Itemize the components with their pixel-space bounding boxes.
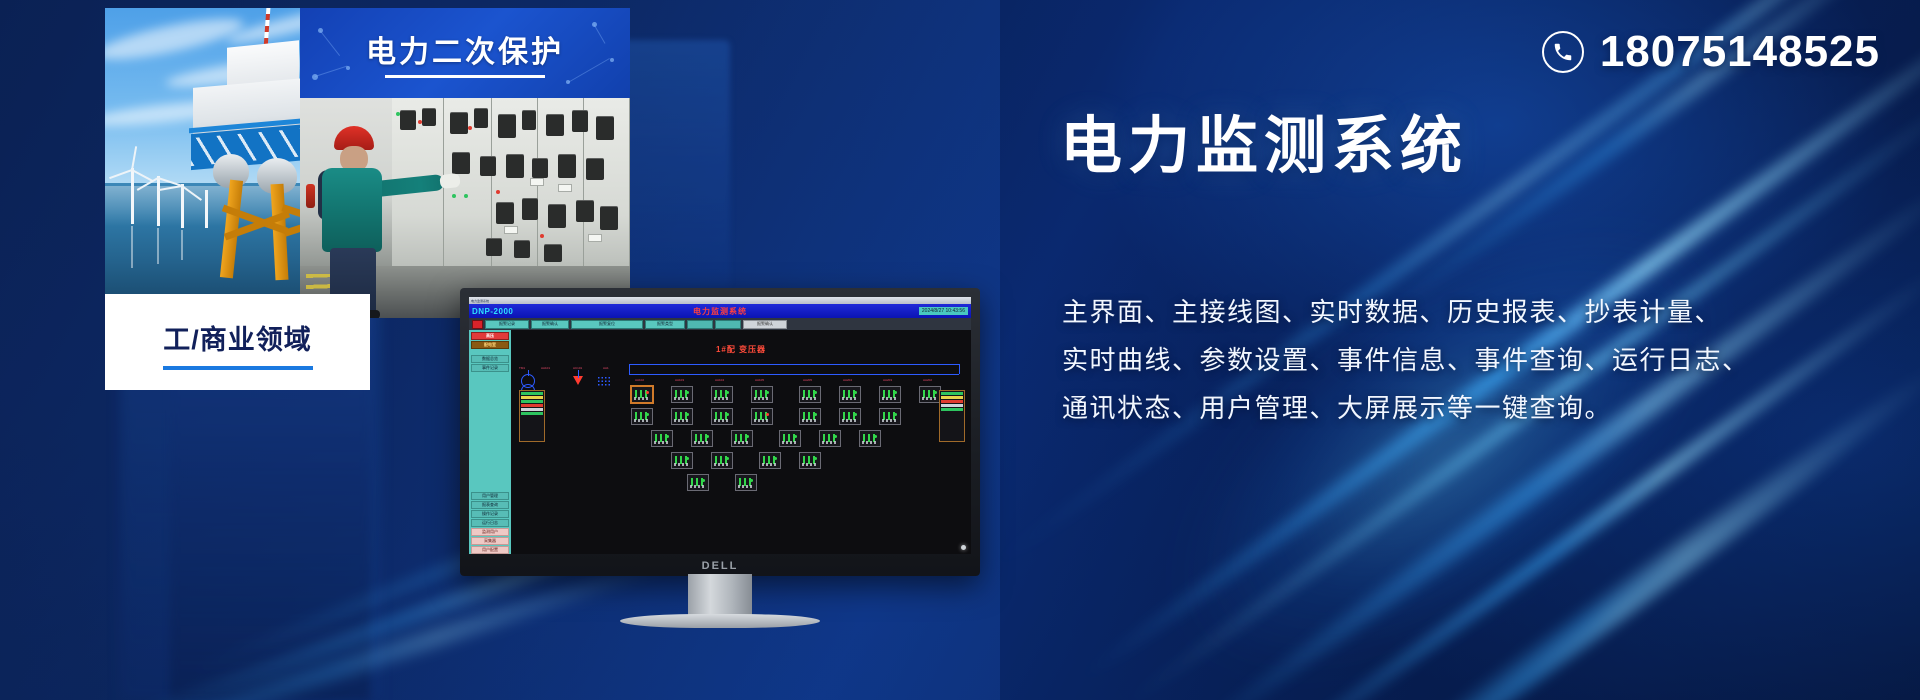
wind-turbine <box>181 184 184 228</box>
bay-label: AA102 <box>635 378 644 382</box>
turbine-reflection <box>157 228 159 264</box>
breaker-handle <box>522 198 538 220</box>
breaker-handle <box>450 112 468 134</box>
measurement-row <box>941 400 963 403</box>
card-industry-label: 工/商业领域 <box>105 318 370 357</box>
breaker-handle <box>596 116 614 140</box>
feeder-cell[interactable] <box>779 430 801 447</box>
sidebar-item-operation-record[interactable]: 操作记录 <box>471 510 509 518</box>
feeder-cell[interactable] <box>839 408 861 425</box>
cabinet-label <box>530 178 544 186</box>
sidebar-item-user-management[interactable]: 用户管理 <box>471 492 509 500</box>
bay-label: AA103 <box>675 378 684 382</box>
card-industrial-commercial[interactable]: 工/商业领域 <box>105 294 370 390</box>
breaker-handle <box>474 108 488 128</box>
measurement-panel[interactable] <box>939 390 965 442</box>
feeder-cell[interactable] <box>799 452 821 469</box>
description-line-1: 主界面、主接线图、实时数据、历史报表、抄表计量、 <box>1062 288 1902 336</box>
bay-label: AA203 <box>883 378 892 382</box>
breaker-handle <box>576 200 594 222</box>
bay-label: AA202 <box>923 378 932 382</box>
feeder-cell[interactable] <box>731 430 753 447</box>
measurement-row <box>521 396 543 399</box>
phone-in-circle-icon <box>1542 31 1584 73</box>
feeder-cell[interactable] <box>671 408 693 425</box>
feeder-cell[interactable] <box>671 386 693 403</box>
feeder-cell[interactable] <box>687 474 709 491</box>
feeder-cell[interactable] <box>859 430 881 447</box>
bay-label: AA1 <box>603 366 609 370</box>
feeder-cell[interactable] <box>839 386 861 403</box>
worker-figure <box>316 126 388 316</box>
desktop-monitor: 电力监测系统 DNP-2000 电力监测系统 2024/8/27 10:43:5… <box>460 288 980 618</box>
diagram-title: 1#配 变压器 <box>511 344 971 355</box>
turbine-reflection <box>131 226 133 268</box>
scada-application: 电力监测系统 DNP-2000 电力监测系统 2024/8/27 10:43:5… <box>469 297 971 554</box>
wind-turbine <box>205 190 208 228</box>
bay-label: AA204 <box>843 378 852 382</box>
scada-app-header: DNP-2000 电力监测系统 2024/8/27 10:43:56 <box>469 304 971 318</box>
measurement-panel[interactable] <box>519 390 545 442</box>
wind-turbine <box>157 176 160 226</box>
bay-label: TM1 <box>519 366 525 370</box>
bay-label: AA104 <box>715 378 724 382</box>
monitor-power-led[interactable] <box>961 545 966 550</box>
description-line-3: 通讯状态、用户管理、大屏展示等一键查询。 <box>1062 384 1902 432</box>
feeder-cell[interactable] <box>691 430 713 447</box>
power-monitoring-banner: 电力二次保护 <box>0 0 1920 700</box>
measurement-row <box>521 400 543 403</box>
banner-content: 18075148525 电力监测系统 主界面、主接线图、实时数据、历史报表、抄表… <box>1060 0 1920 700</box>
switchgear-operation-photo <box>300 98 630 318</box>
fire-extinguisher <box>306 184 315 208</box>
feeder-cell[interactable] <box>711 408 733 425</box>
scada-single-line-diagram: 1#配 变压器 TM1 AA101 AC101 AA1 <box>511 330 971 554</box>
connection-line <box>528 370 529 376</box>
status-led <box>418 120 422 124</box>
turbine-reflection <box>181 230 183 260</box>
toolbar-button[interactable] <box>715 320 741 329</box>
cabinet-label <box>588 234 602 242</box>
bay-label: AA105 <box>755 378 764 382</box>
busbar <box>629 374 959 375</box>
monitor-stand-neck <box>688 574 752 618</box>
breaker-handle <box>548 204 566 228</box>
feeder-cell[interactable] <box>631 408 653 425</box>
feeder-cell[interactable] <box>919 386 941 403</box>
status-led <box>452 194 456 198</box>
feeder-cell[interactable] <box>759 452 781 469</box>
status-led <box>396 112 400 116</box>
toolbar-button[interactable]: 报警确认 <box>531 320 569 329</box>
wind-turbine <box>131 168 134 224</box>
scada-toolbar[interactable]: 报警记录 报警确认 报警复位 报警类型 报警确认 <box>469 318 971 330</box>
cabinet-label <box>504 226 518 234</box>
feeder-cell[interactable] <box>879 408 901 425</box>
toolbar-button[interactable]: 报警类型 <box>645 320 685 329</box>
breaker-handle <box>572 110 588 132</box>
card-protection-label: 电力二次保护 <box>300 27 630 71</box>
measurement-row <box>521 408 543 411</box>
feeder-cell[interactable] <box>631 386 653 403</box>
breaker-handle <box>486 238 502 256</box>
status-led <box>468 126 472 130</box>
contact-phone[interactable]: 18075148525 <box>1542 30 1880 74</box>
breaker-handle <box>496 202 514 224</box>
breaker-handle <box>586 158 604 180</box>
feeder-cell[interactable] <box>751 386 773 403</box>
feature-description: 主界面、主接线图、实时数据、历史报表、抄表计量、 实时曲线、参数设置、事件信息、… <box>1062 288 1902 432</box>
sidebar-item-monitor-user[interactable]: 监测用户 <box>471 528 509 536</box>
sidebar-item-event-log[interactable]: 事件记录 <box>471 364 509 372</box>
page-title: 电力监测系统 <box>1060 112 1468 181</box>
description-line-2: 实时曲线、参数设置、事件信息、事件查询、运行日志、 <box>1062 336 1902 384</box>
measurement-row <box>521 412 543 415</box>
monitor-bezel: 电力监测系统 DNP-2000 电力监测系统 2024/8/27 10:43:5… <box>460 288 980 576</box>
scada-clock: 2024/8/27 10:43:56 <box>919 307 968 315</box>
status-led <box>464 194 468 198</box>
sidebar-item-user-config[interactable]: 用户配置 <box>471 546 509 554</box>
toolbar-button[interactable]: 报警记录 <box>485 320 529 329</box>
toolbar-button[interactable] <box>687 320 713 329</box>
scada-app-title: 电力监测系统 <box>469 306 971 317</box>
breaker-handle <box>422 108 436 126</box>
scada-window-titlebar: 电力监测系统 <box>469 297 971 304</box>
sidebar-item-data-overview[interactable]: 数据总览 <box>471 355 509 363</box>
feeder-cell[interactable] <box>879 386 901 403</box>
breaker-handle <box>498 114 516 138</box>
sidebar-item-distribution-room[interactable]: 配电室 <box>471 341 509 349</box>
status-led <box>540 234 544 238</box>
bay-label: AA205 <box>803 378 812 382</box>
card-power-secondary-protection[interactable]: 电力二次保护 <box>300 8 630 98</box>
card-protection-underline <box>385 75 545 78</box>
busbar-riser <box>959 364 960 374</box>
busbar <box>629 364 959 365</box>
feeder-cell[interactable] <box>819 430 841 447</box>
scada-window-title: 电力监测系统 <box>471 299 489 303</box>
breaker-handle <box>532 158 548 178</box>
card-industry-underline <box>163 366 313 370</box>
phone-number: 18075148525 <box>1600 30 1880 74</box>
cabinet-label <box>558 184 572 192</box>
measurement-row <box>941 408 963 411</box>
feeder-cell[interactable] <box>799 386 821 403</box>
feeder-cell[interactable] <box>751 408 773 425</box>
monitor-brand-logo: DELL <box>460 560 980 572</box>
breaker-handle <box>558 154 576 178</box>
sidebar-item-run-log[interactable]: 运行日志 <box>471 519 509 527</box>
breaker-handle <box>522 110 536 130</box>
scada-sidebar[interactable]: 高压 配电室 数据总览 事件记录 用户管理 报表查询 操作记录 运行日志 监测用… <box>469 330 511 554</box>
feeder-cell[interactable] <box>711 386 733 403</box>
measurement-row <box>941 404 963 407</box>
breaker-handle <box>600 206 618 230</box>
scada-body: 高压 配电室 数据总览 事件记录 用户管理 报表查询 操作记录 运行日志 监测用… <box>469 330 971 554</box>
breaker-handle <box>546 114 564 136</box>
busbar-riser <box>629 364 630 374</box>
toolbar-button-confirm[interactable]: 报警确认 <box>743 320 787 329</box>
breaker-handle <box>480 156 496 176</box>
alarm-indicator-button[interactable] <box>472 320 483 329</box>
breaker-handle <box>400 110 416 130</box>
worker-jacket <box>322 168 382 252</box>
feeder-cell[interactable] <box>671 452 693 469</box>
feeder-cell[interactable] <box>711 452 733 469</box>
monitor-screen: 电力监测系统 DNP-2000 电力监测系统 2024/8/27 10:43:5… <box>469 297 971 554</box>
status-led <box>496 190 500 194</box>
measurement-row <box>941 392 963 395</box>
breaker-handle <box>452 152 470 174</box>
monitor-stand-base <box>620 614 820 628</box>
sidebar-spacer <box>471 373 509 491</box>
sidebar-item-report-query[interactable]: 报表查询 <box>471 501 509 509</box>
measurement-row <box>521 392 543 395</box>
breaker-handle <box>544 244 562 262</box>
feeder-cell[interactable] <box>735 474 757 491</box>
sidebar-item-collector[interactable]: 采集器 <box>471 537 509 545</box>
feeder-cell[interactable] <box>651 430 673 447</box>
connection-line <box>578 370 579 378</box>
feeder-cell[interactable] <box>799 408 821 425</box>
sidebar-item-high-voltage[interactable]: 高压 <box>471 332 509 340</box>
toolbar-button[interactable]: 报警复位 <box>571 320 643 329</box>
capacitor-bank <box>597 376 611 386</box>
measurement-row <box>521 404 543 407</box>
measurement-row <box>941 396 963 399</box>
bay-label: AA101 <box>541 366 550 370</box>
breaker-handle <box>506 154 524 178</box>
breaker-handle <box>514 240 530 258</box>
